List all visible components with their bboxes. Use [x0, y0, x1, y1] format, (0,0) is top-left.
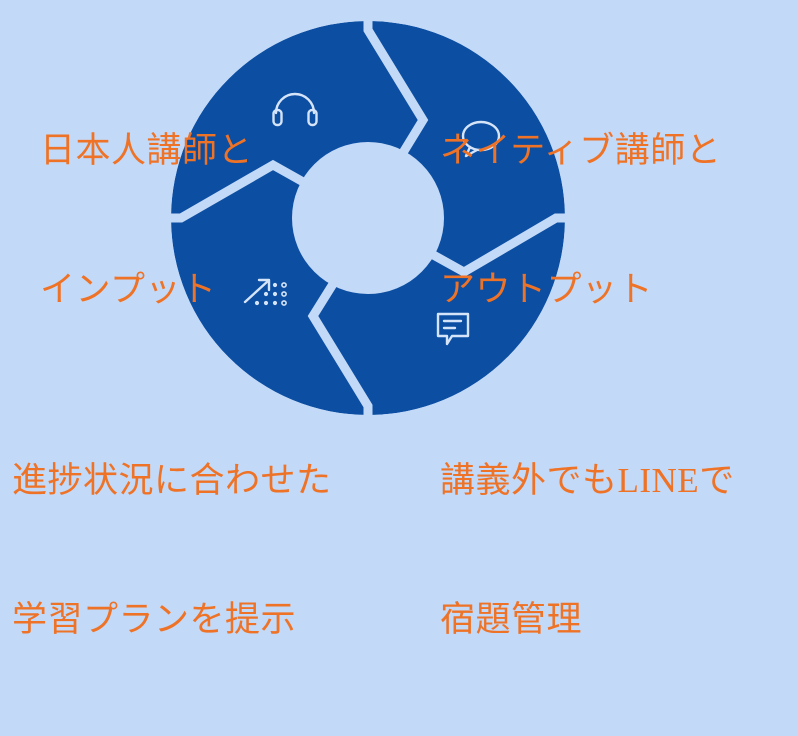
label-line: 学習プランを提示	[12, 597, 332, 643]
label-progress-study-plan: 進捗状況に合わせた 学習プランを提示	[12, 366, 332, 736]
infographic-canvas: 日本人講師と インプット ネイティブ講師と アウトプット 進捗状況に合わせた 学…	[0, 0, 798, 469]
label-line: 宿題管理	[440, 597, 735, 643]
label-japanese-teacher-input: 日本人講師と インプット	[40, 36, 253, 406]
label-line: インプット	[40, 267, 253, 313]
label-line: ネイティブ講師と	[440, 128, 721, 174]
label-line: 講義外でもLINEで	[440, 458, 735, 504]
label-line: アウトプット	[440, 267, 721, 313]
label-line: 日本人講師と	[40, 128, 253, 174]
label-native-teacher-output: ネイティブ講師と アウトプット	[440, 36, 721, 406]
label-line: 進捗状況に合わせた	[12, 458, 332, 504]
label-line-homework-support: 講義外でもLINEで 宿題管理	[440, 366, 735, 736]
